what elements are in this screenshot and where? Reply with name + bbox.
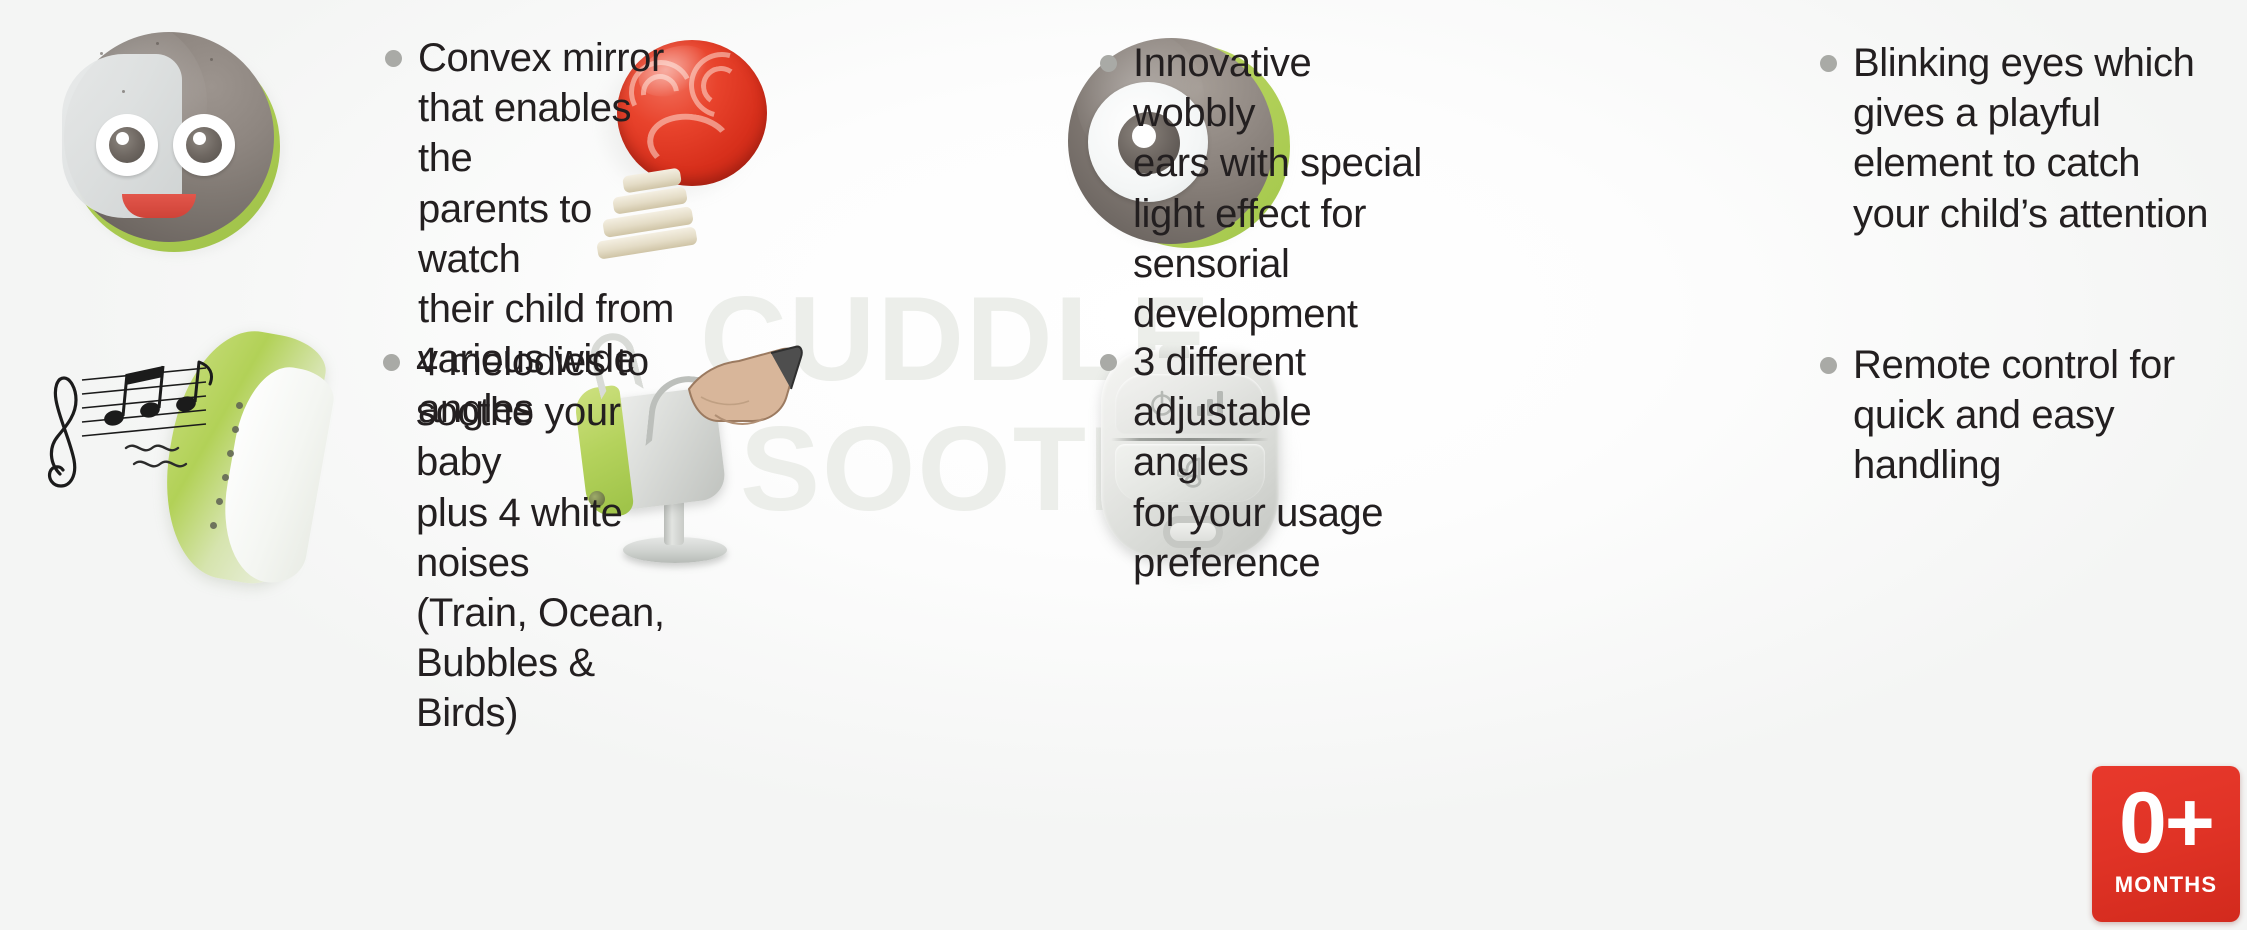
music-notes-speaker-illustration xyxy=(30,330,360,595)
left-eye-glint xyxy=(116,132,129,145)
ball-speck xyxy=(100,52,103,55)
bullet-dot-icon xyxy=(1820,357,1837,374)
feature-adjustable-angles-text: 3 different adjustable angles for your u… xyxy=(1133,337,1430,588)
smiley-right-eye-icon xyxy=(173,114,235,176)
right-pupil xyxy=(186,127,222,163)
feature-blinking-eyes-text: Blinking eyes which gives a playful elem… xyxy=(1853,38,2208,239)
speaker-hole xyxy=(210,522,217,529)
age-badge-value: 0+ xyxy=(2119,784,2213,863)
bullet-dot-icon xyxy=(1100,55,1117,72)
bullet-dot-icon xyxy=(385,50,402,67)
ball-speck xyxy=(210,58,213,61)
speaker-hole xyxy=(222,474,229,481)
feature-blinking-eyes: Blinking eyes which gives a playful elem… xyxy=(1820,38,2240,239)
feature-wobbly-ears-text: Innovative wobbly ears with special ligh… xyxy=(1133,38,1430,339)
speaker-hole xyxy=(227,450,234,457)
feature-wobbly-ears: Innovative wobbly ears with special ligh… xyxy=(1100,38,1430,339)
bullet-dot-icon xyxy=(1820,55,1837,72)
age-badge: 0+ MONTHS xyxy=(2092,766,2240,922)
speaker-hole xyxy=(232,426,239,433)
feature-adjustable-angles: 3 different adjustable angles for your u… xyxy=(1100,337,1430,588)
feature-melodies: 4 melodies to soothe your baby plus 4 wh… xyxy=(383,337,703,739)
feature-remote-control-text: Remote control for quick and easy handli… xyxy=(1853,340,2175,491)
feature-melodies-text: 4 melodies to soothe your baby plus 4 wh… xyxy=(416,337,703,739)
speaker-hole xyxy=(236,402,243,409)
music-note-icon xyxy=(30,344,220,494)
smiley-left-eye-icon xyxy=(96,114,158,176)
smiley-ball-mirror-illustration xyxy=(60,28,290,260)
speaker-hole xyxy=(216,498,223,505)
feature-remote-control: Remote control for quick and easy handli… xyxy=(1820,340,2220,491)
infographic-canvas: CUDDLE SOOTHE xyxy=(0,0,2247,930)
bullet-dot-icon xyxy=(1100,354,1117,371)
left-pupil xyxy=(109,127,145,163)
bullet-dot-icon xyxy=(383,354,400,371)
ball-speck xyxy=(156,42,159,45)
ball-speck xyxy=(122,90,125,93)
age-badge-unit: MONTHS xyxy=(2115,872,2218,898)
right-eye-glint xyxy=(193,132,206,145)
